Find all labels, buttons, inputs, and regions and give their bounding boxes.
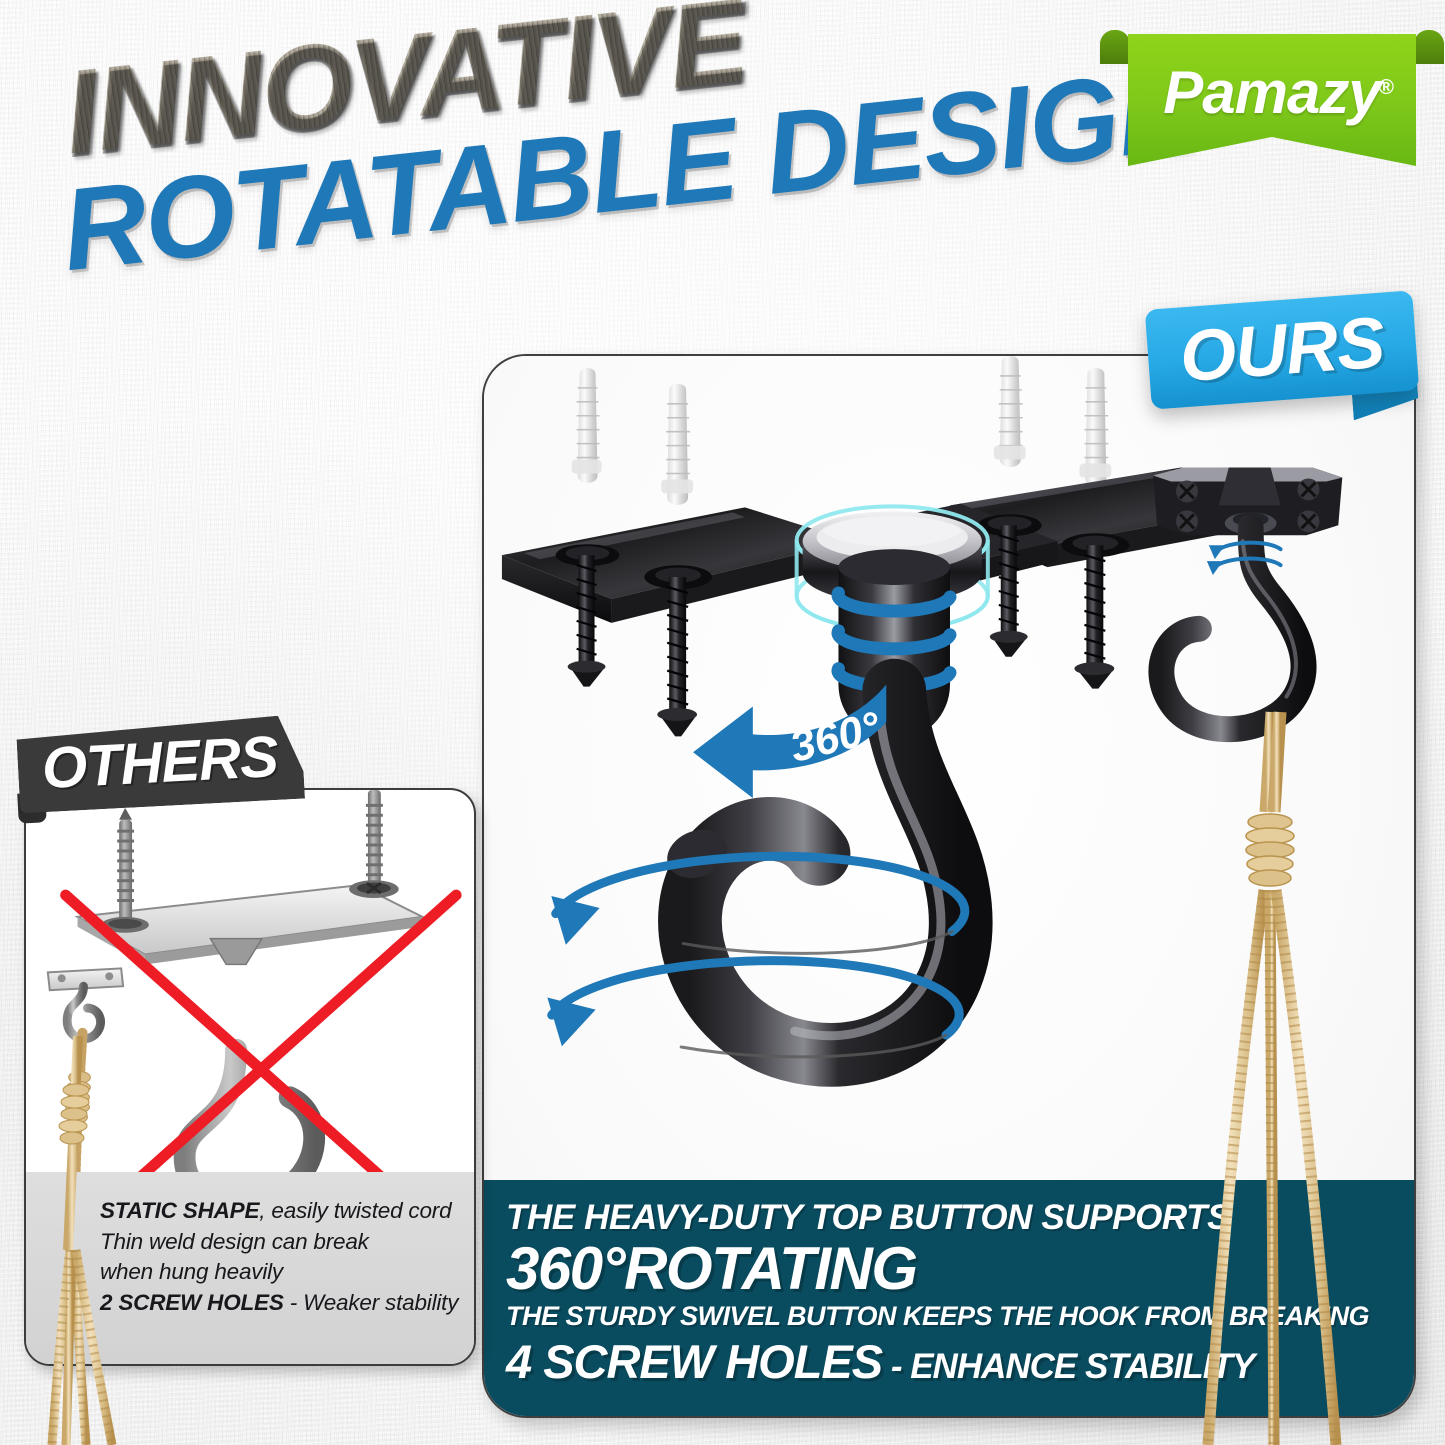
logo-ribbon-fold-right	[1414, 30, 1444, 64]
footer-line-2: 360°ROTATING	[506, 1234, 1414, 1303]
others-small-hook-icon	[48, 968, 123, 1038]
others-text-line-4-rest: - Weaker stability	[284, 1290, 459, 1315]
logo-ribbon-fold-left	[1100, 30, 1130, 64]
others-badge-label: OTHERS	[40, 722, 279, 801]
others-screw-right	[349, 790, 399, 898]
others-text-line-4: 2 SCREW HOLES - Weaker stability	[100, 1288, 460, 1319]
others-weak-weld	[210, 939, 262, 965]
others-screw-left	[101, 808, 149, 933]
others-text-line-3: when hung heavily	[100, 1257, 460, 1288]
others-rope-icon	[66, 1033, 91, 1173]
others-comparison-card: STATIC SHAPE, easily twisted cord Thin w…	[24, 788, 476, 1366]
others-text-line-4-strong: 2 SCREW HOLES	[100, 1290, 284, 1315]
ours-badge-label: OURS	[1177, 302, 1386, 399]
others-description: STATIC SHAPE, easily twisted cord Thin w…	[26, 1172, 474, 1364]
footer-line-1: THE HEAVY-DUTY TOP BUTTON SUPPORTS	[506, 1198, 1414, 1238]
trademark-icon: ®	[1379, 76, 1394, 100]
others-text-line-1-rest: , easily twisted cord	[259, 1198, 451, 1223]
ours-badge: OURS	[1145, 290, 1420, 409]
ours-footer-banner: THE HEAVY-DUTY TOP BUTTON SUPPORTS 360°R…	[484, 1180, 1414, 1416]
others-text-line-1-strong: STATIC SHAPE	[100, 1198, 259, 1223]
page-title: INNOVATIVE ROTATABLE DESIGN	[44, 36, 1134, 306]
brand-name: Pamazy	[1163, 58, 1380, 127]
others-hook-icon	[185, 939, 315, 1204]
footer-line-4-strong: 4 SCREW HOLES	[506, 1335, 882, 1388]
footer-line-4-rest: - ENHANCE STABILITY	[882, 1347, 1254, 1386]
footer-line-4: 4 SCREW HOLES - ENHANCE STABILITY	[506, 1334, 1414, 1389]
others-text-line-2: Thin weld design can break	[100, 1227, 460, 1258]
ours-product-card: 360°	[482, 354, 1416, 1418]
others-mounting-plate	[78, 885, 423, 964]
footer-line-3: THE STURDY SWIVEL BUTTON KEEPS THE HOOK …	[506, 1301, 1414, 1332]
others-text-line-1: STATIC SHAPE, easily twisted cord	[100, 1196, 460, 1227]
